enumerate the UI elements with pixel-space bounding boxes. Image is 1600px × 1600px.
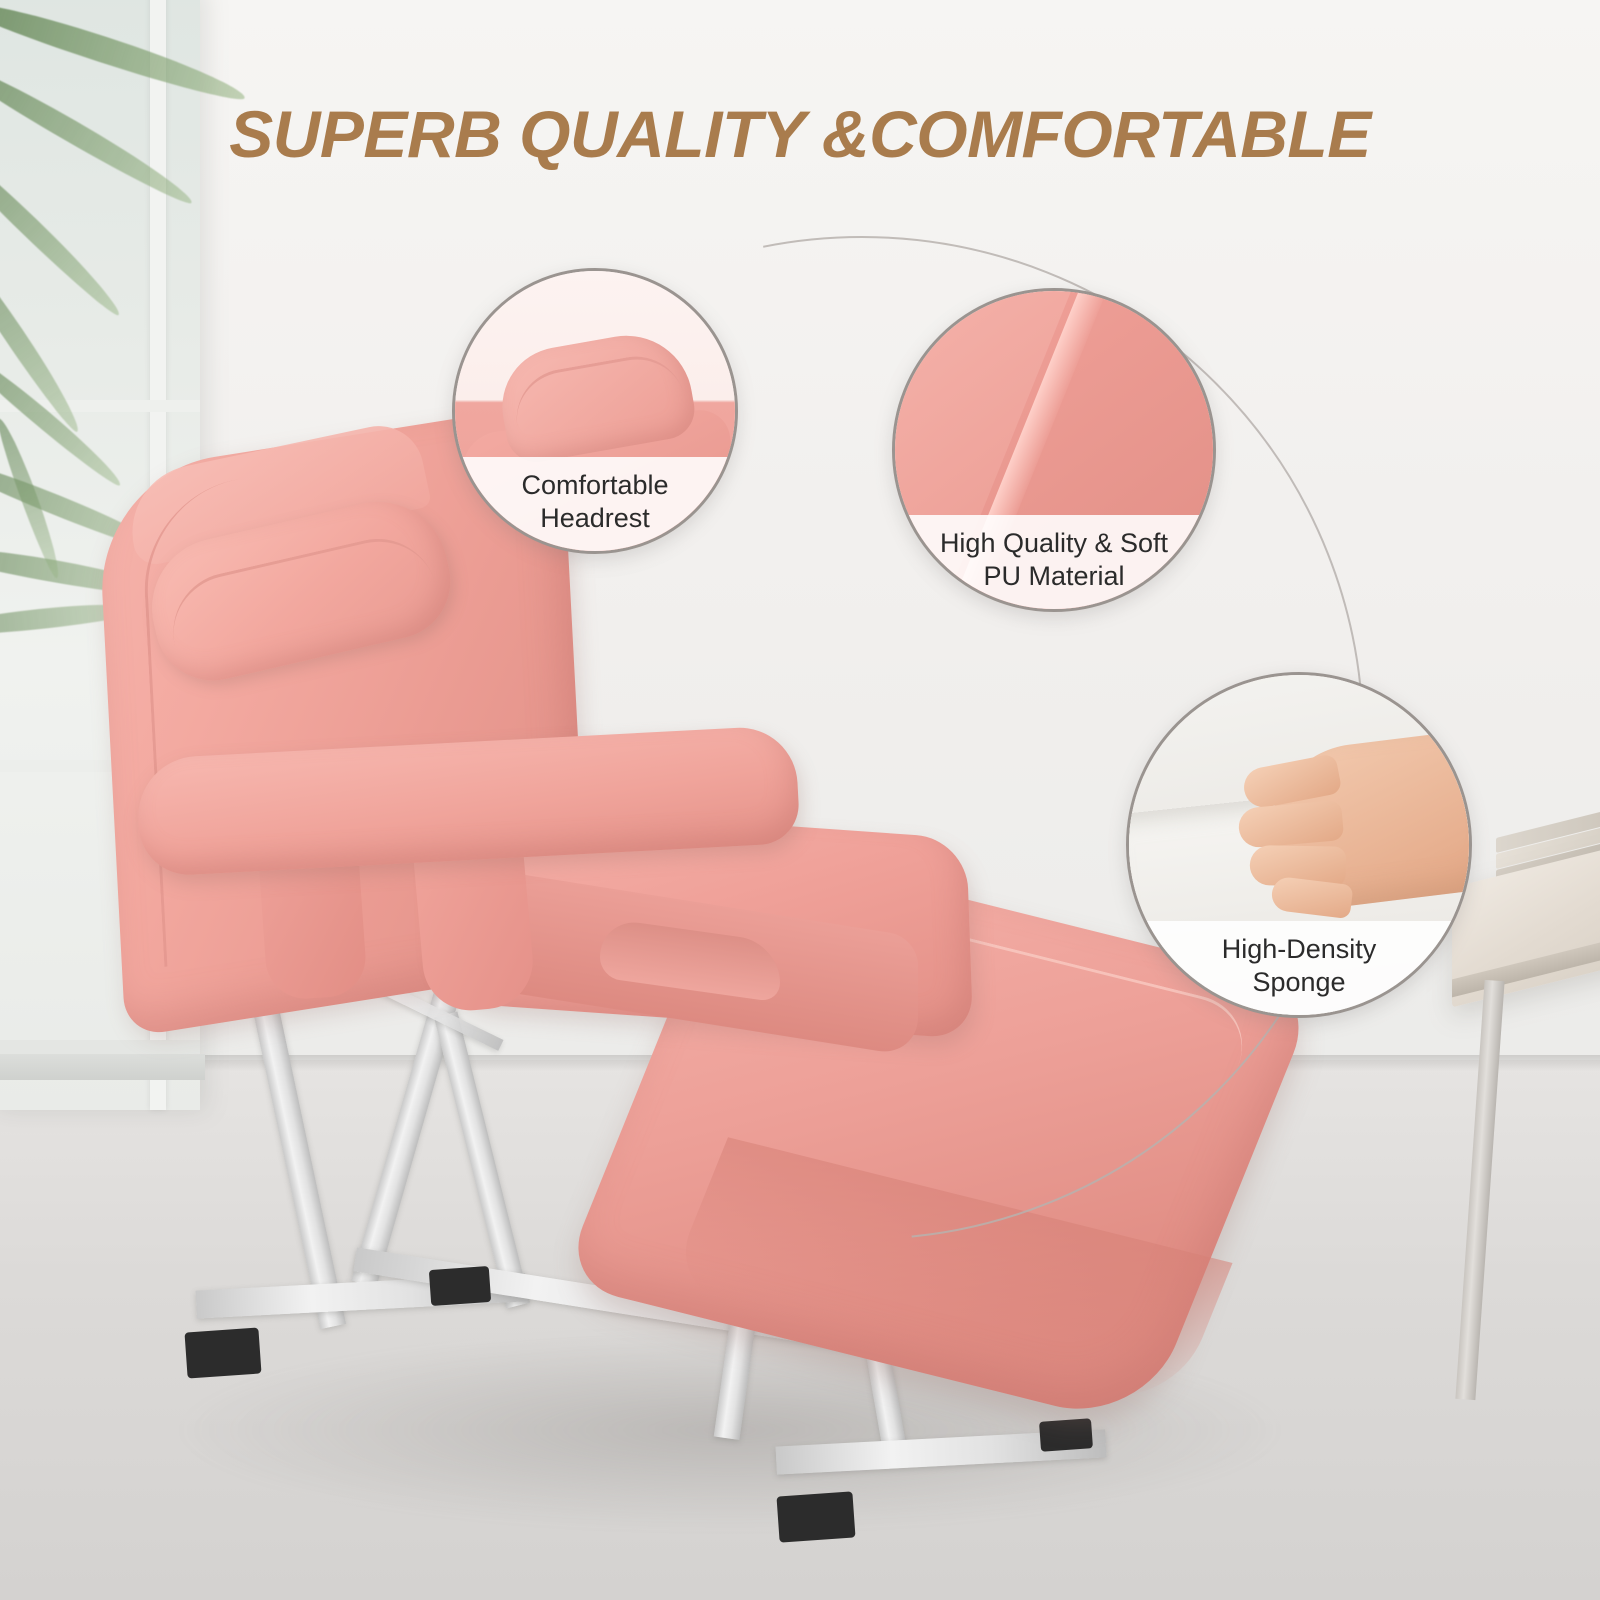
- callout-pu-material-label-line2: PU Material: [905, 560, 1203, 593]
- wall-floor-junction: [0, 1055, 1600, 1071]
- callout-pu-material-label-line1: High Quality & Soft: [905, 527, 1203, 560]
- callout-sponge-label-line2: Sponge: [1139, 966, 1459, 999]
- product-image-canvas: SUPERB QUALITY &COMFORTABLE: [0, 0, 1600, 1600]
- callout-headrest-label: Comfortable Headrest: [455, 457, 735, 551]
- callout-sponge-hand: [1260, 728, 1472, 915]
- callout-headrest: Comfortable Headrest: [452, 268, 738, 554]
- callout-headrest-label-line2: Headrest: [465, 502, 725, 535]
- callout-sponge: High-Density Sponge: [1126, 672, 1472, 1018]
- window-mullion-horizontal-3: [0, 1040, 200, 1054]
- floor-background: [0, 1060, 1600, 1600]
- headline-text: SUPERB QUALITY &COMFORTABLE: [0, 96, 1600, 172]
- callout-headrest-label-line1: Comfortable: [465, 469, 725, 502]
- callout-pu-material: High Quality & Soft PU Material: [892, 288, 1216, 612]
- window-sill: [0, 1054, 205, 1080]
- callout-sponge-label: High-Density Sponge: [1129, 921, 1469, 1015]
- callout-sponge-label-line1: High-Density: [1139, 933, 1459, 966]
- callout-pu-material-label: High Quality & Soft PU Material: [895, 515, 1213, 609]
